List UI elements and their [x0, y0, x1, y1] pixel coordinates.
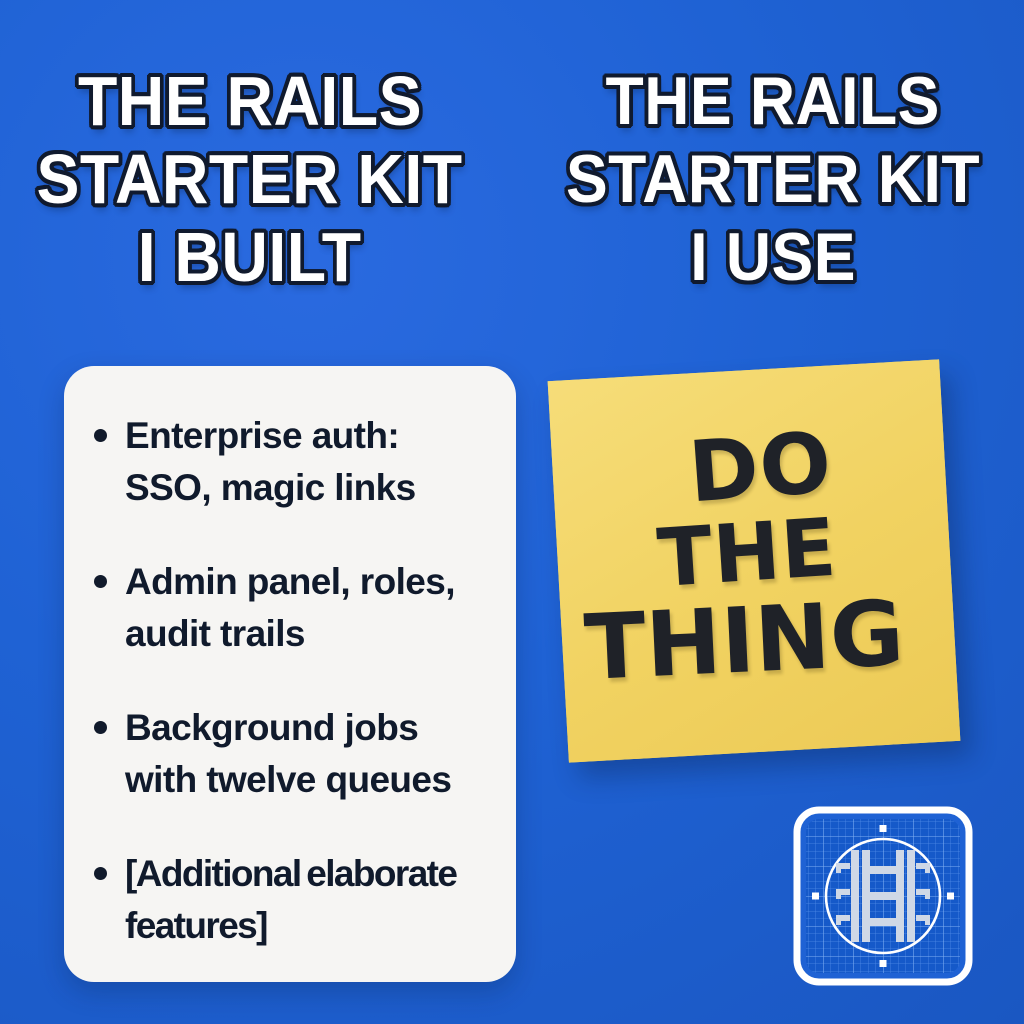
list-item: Admin panel, roles, audit trails	[94, 556, 482, 660]
headline-left-line-1: THE RAILS	[78, 62, 422, 140]
headline-column-left: THE RAILS STARTER KIT I BUILT	[0, 0, 512, 346]
feature-list-card: Enterprise auth: SSO, magic links Admin …	[64, 366, 516, 982]
bullet-dot-icon	[94, 721, 107, 734]
rails-blueprint-badge-icon	[793, 806, 973, 986]
sticky-note-line-1: DO	[686, 419, 835, 515]
headline-right-line-1: THE RAILS	[606, 62, 940, 140]
headline-right-line-3: I USE	[690, 218, 856, 296]
headline-left-line-2: STARTER KIT	[37, 140, 463, 218]
headline-row: THE RAILS STARTER KIT I BUILT THE RAILS …	[0, 0, 1024, 346]
headline-left-line-3: I BUILT	[138, 218, 362, 296]
headline-column-right: THE RAILS STARTER KIT I USE	[512, 0, 1024, 346]
list-item: [Additional elaborate features]	[94, 848, 482, 952]
sticky-note-line-3: THING	[583, 588, 906, 695]
headline-right-line-2: STARTER KIT	[566, 140, 980, 218]
list-item-label: Enterprise auth: SSO, magic links	[125, 410, 465, 514]
list-item: Background jobs with twelve queues	[94, 702, 482, 806]
meme-canvas: THE RAILS STARTER KIT I BUILT THE RAILS …	[0, 0, 1024, 1024]
bullet-dot-icon	[94, 867, 107, 880]
list-item-label: Admin panel, roles, audit trails	[125, 556, 465, 660]
bullet-dot-icon	[94, 429, 107, 442]
sticky-note: DO THE THING	[548, 359, 961, 762]
list-item: Enterprise auth: SSO, magic links	[94, 410, 482, 514]
list-item-label: Background jobs with twelve queues	[125, 702, 465, 806]
list-item-label: [Additional elaborate features]	[125, 848, 465, 952]
bullet-dot-icon	[94, 575, 107, 588]
